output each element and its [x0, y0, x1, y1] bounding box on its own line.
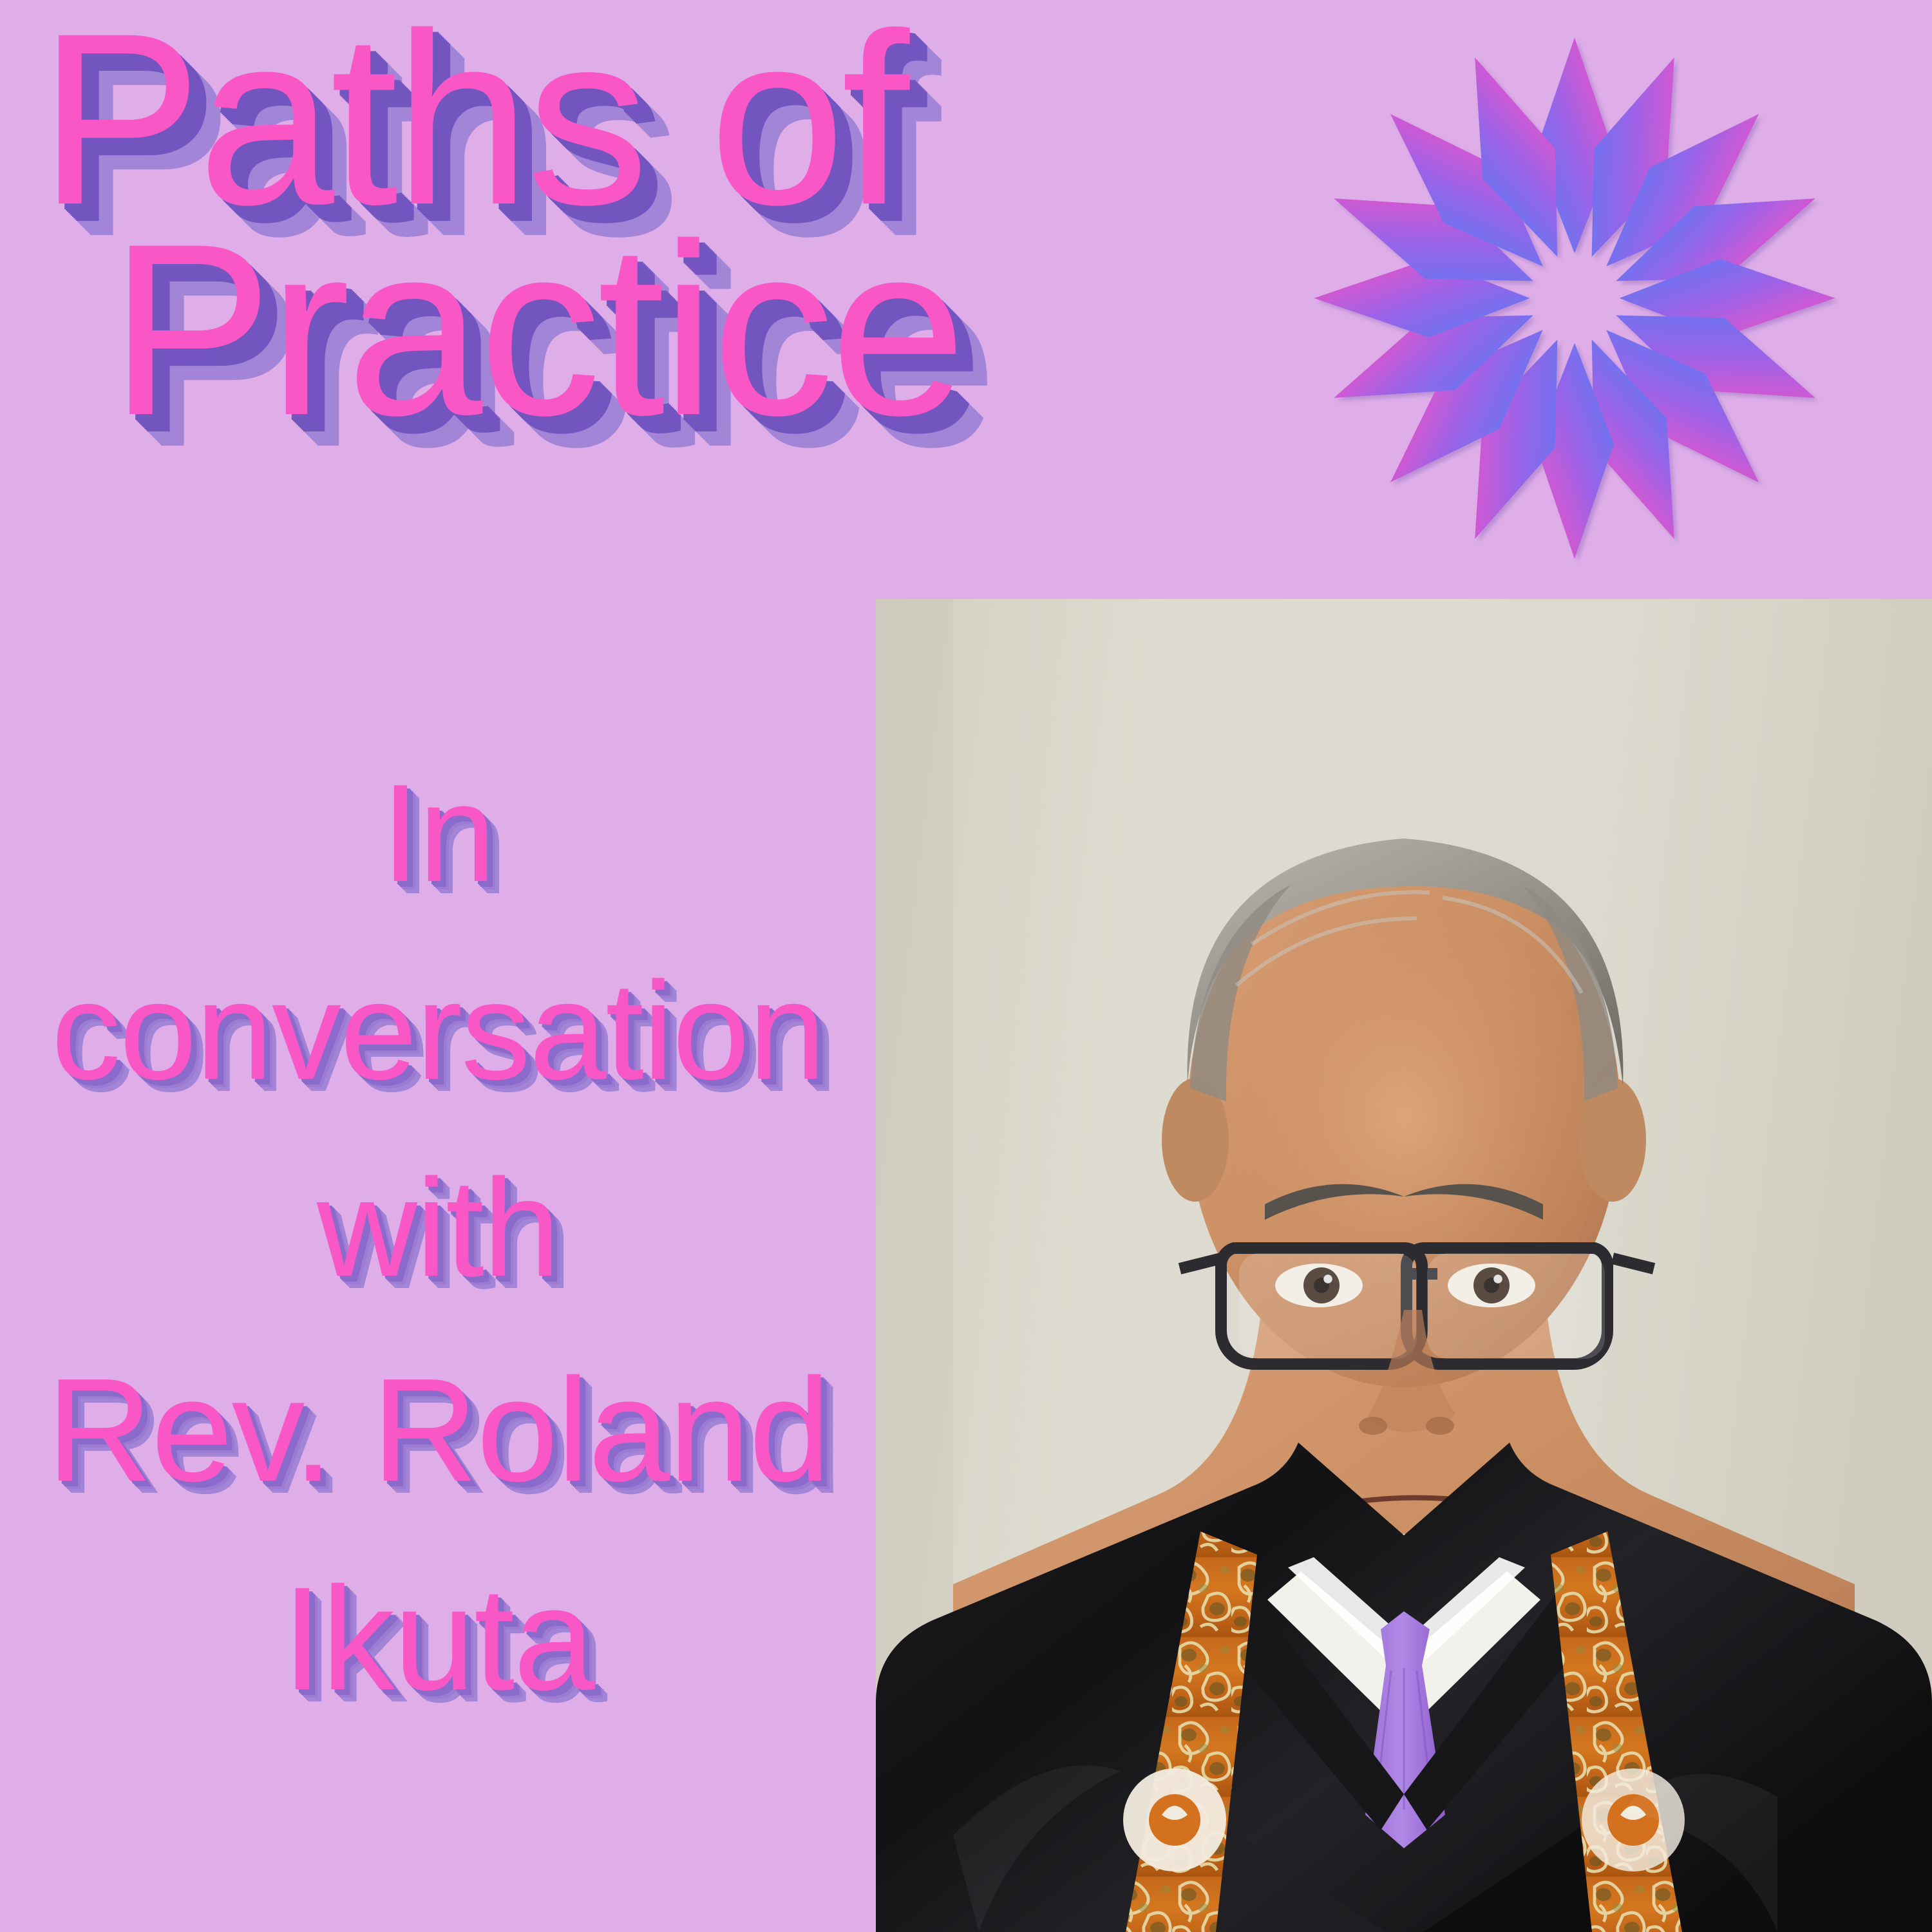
title-line-2: Practice	[39, 225, 1249, 435]
podcast-title: Paths of Practice	[39, 14, 1249, 435]
podcast-cover-art: Paths of Practice	[0, 0, 1932, 1932]
subtitle-line-5: Ikuta	[0, 1535, 876, 1744]
subtitle-line-3: with	[0, 1129, 876, 1327]
guest-portrait-photo	[876, 599, 1932, 1932]
subtitle-line-2: conversation	[0, 932, 876, 1130]
subtitle-line-4: Rev. Roland	[0, 1327, 876, 1535]
subtitle-line-1: In	[0, 734, 876, 932]
podcast-subtitle: In conversation with Rev. Roland Ikuta	[0, 734, 876, 1744]
sunburst-flower-icon	[1294, 18, 1855, 578]
